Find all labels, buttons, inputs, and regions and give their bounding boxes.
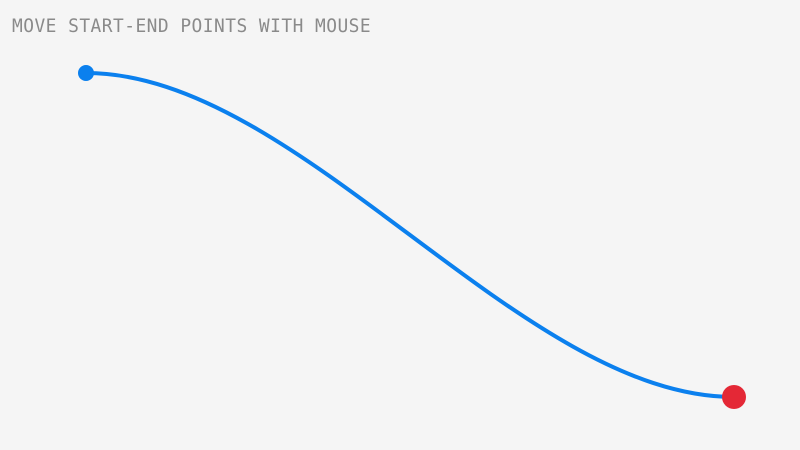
start-point-handle[interactable] — [78, 65, 94, 81]
bezier-curve — [86, 73, 734, 397]
bezier-canvas[interactable]: MOVE START-END POINTS WITH MOUSE — [0, 0, 800, 450]
end-point-handle[interactable] — [722, 385, 746, 409]
curve-layer — [0, 0, 800, 450]
